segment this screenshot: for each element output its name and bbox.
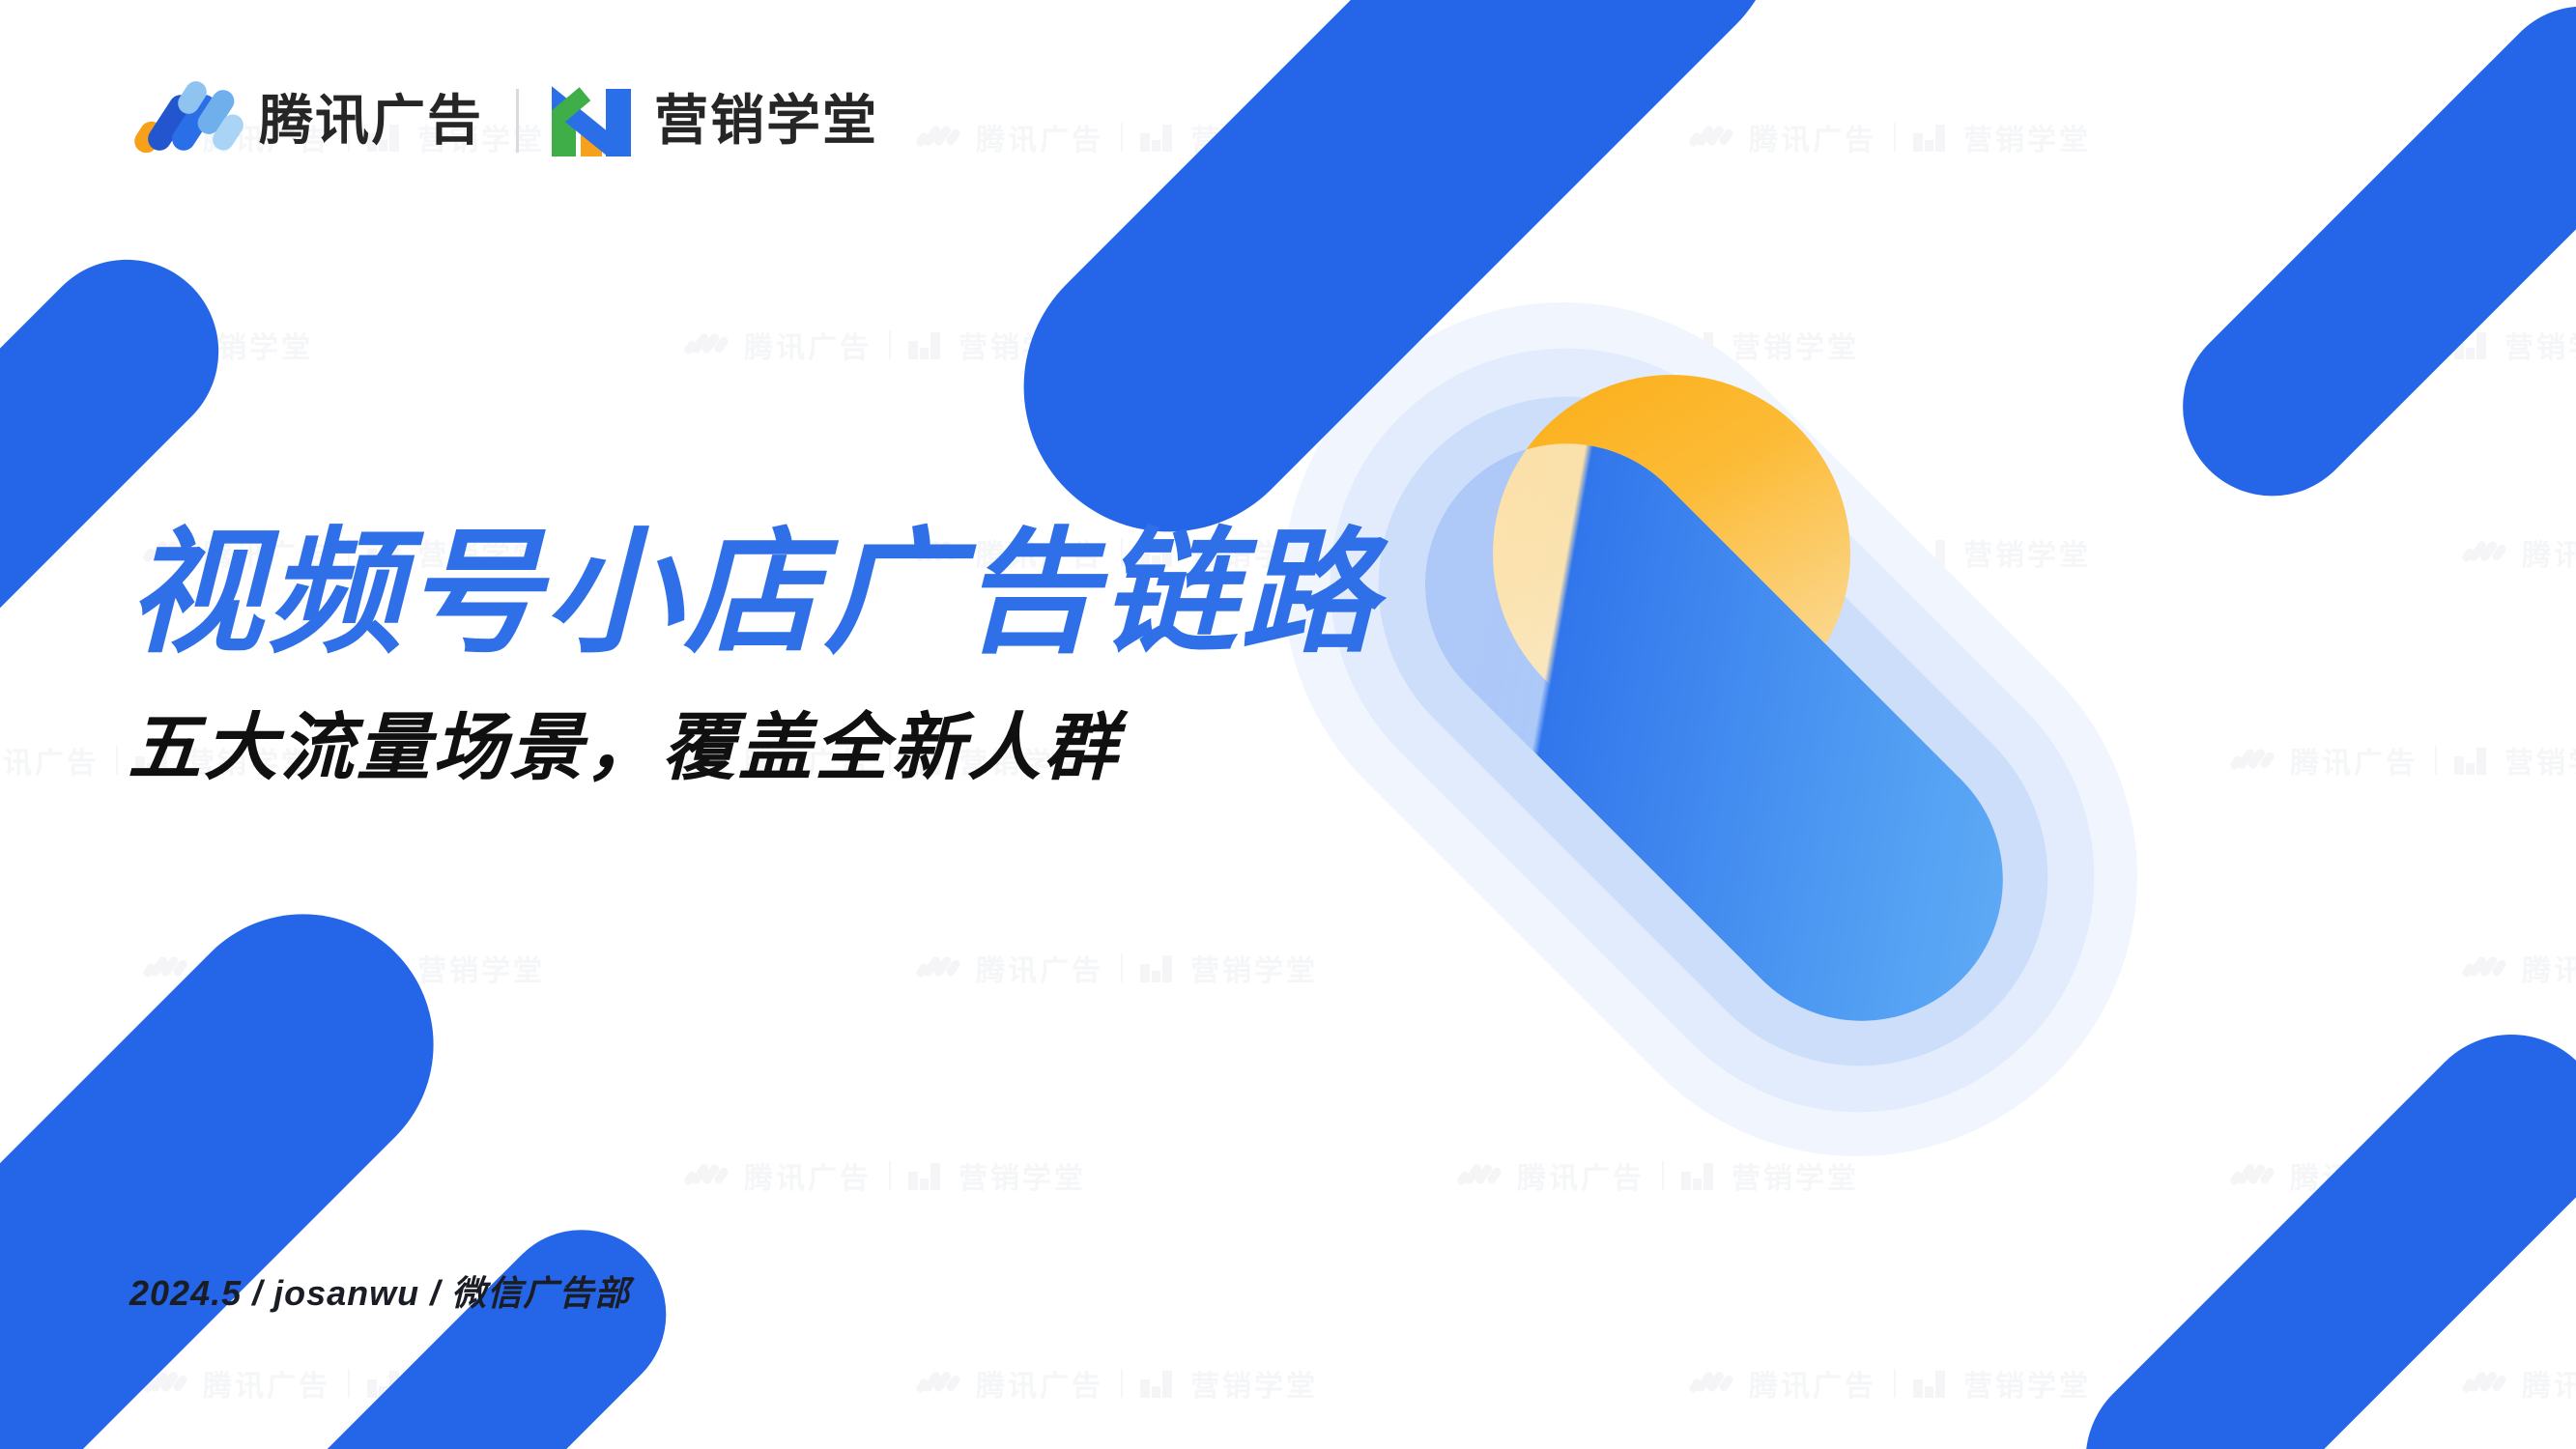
watermark-tencent-ads-logo-icon [1691, 1369, 1732, 1398]
watermark-brand-primary-label: 腾讯广告 [2522, 531, 2576, 574]
watermark-brand-primary-label: 腾讯广告 [0, 739, 99, 781]
watermark-brand-secondary-label: 营销学堂 [2504, 1154, 2576, 1197]
watermark-separator-icon [2435, 330, 2437, 359]
watermark-marketing-academy-m-icon [1140, 953, 1173, 982]
watermark-tencent-ads-logo-icon [2464, 538, 2504, 567]
watermark-brand-primary-label: 腾讯广告 [976, 947, 1103, 989]
watermark-separator-icon [2435, 746, 2437, 775]
watermark-marketing-academy-m-icon [1913, 953, 1946, 982]
watermark-brand-primary-label: 腾讯广告 [0, 1154, 99, 1197]
watermark-unit: 腾讯广告营销学堂 [2232, 324, 2576, 366]
watermark-tencent-ads-logo-icon [2464, 1369, 2504, 1398]
watermark-tencent-ads-logo-icon [1691, 123, 1732, 152]
pill-right-edge-upper [2146, 0, 2576, 533]
watermark-unit: 腾讯广告营销学堂 [1691, 947, 2091, 989]
marketing-academy-m-icon [552, 85, 635, 156]
watermark-unit: 腾讯广告营销学堂 [2464, 947, 2576, 989]
watermark-marketing-academy-m-icon [135, 1161, 168, 1190]
watermark-brand-secondary-label: 营销学堂 [1732, 324, 1859, 366]
watermark-separator-icon [116, 746, 118, 775]
watermark-tencent-ads-logo-icon [2232, 1161, 2273, 1190]
watermark-brand-primary-label: 腾讯广告 [1517, 324, 1645, 366]
watermark-marketing-academy-m-icon [367, 953, 400, 982]
watermark-brand-primary-label: 腾讯广告 [1749, 116, 1876, 158]
watermark-unit: 腾讯广告营销学堂 [145, 1362, 545, 1405]
watermark-row: 腾讯广告营销学堂腾讯广告营销学堂腾讯广告营销学堂腾讯广告营销学堂 [0, 1154, 2576, 1197]
watermark-unit: 腾讯广告营销学堂 [1459, 739, 1859, 781]
watermark-brand-primary-label: 腾讯广告 [203, 1362, 330, 1405]
watermark-brand-secondary-label: 营销学堂 [417, 947, 545, 989]
watermark-tencent-ads-logo-icon [2232, 330, 2273, 359]
watermark-unit: 腾讯广告营销学堂 [0, 1154, 313, 1197]
watermark-unit: 腾讯广告营销学堂 [2464, 531, 2576, 574]
watermark-marketing-academy-m-icon [135, 330, 168, 359]
watermark-unit: 腾讯广告营销学堂 [686, 324, 1086, 366]
watermark-brand-secondary-label: 营销学堂 [1963, 116, 2091, 158]
footer-credit: 2024.5 / josanwu / 微信广告部 [129, 1265, 630, 1316]
watermark-separator-icon [116, 1161, 118, 1190]
watermark-separator-icon [1662, 746, 1664, 775]
watermark-separator-icon [1894, 123, 1896, 152]
watermark-marketing-academy-m-icon [1140, 1369, 1173, 1398]
watermark-row: 腾讯广告营销学堂腾讯广告营销学堂腾讯广告营销学堂腾讯广告营销学堂 [145, 1362, 2576, 1405]
watermark-separator-icon [116, 330, 118, 359]
headline-block: 视频号小店广告链路 五大流量场景，覆盖全新人群 [128, 522, 1380, 789]
watermark-brand-secondary-label: 营销学堂 [2504, 739, 2576, 781]
watermark-unit: 腾讯广告营销学堂 [145, 947, 545, 989]
watermark-brand-primary-label: 腾讯广告 [2290, 739, 2418, 781]
watermark-brand-secondary-label: 营销学堂 [417, 1362, 545, 1405]
watermark-marketing-academy-m-icon [1681, 330, 1714, 359]
watermark-brand-secondary-label: 营销学堂 [1732, 1154, 1859, 1197]
watermark-unit: 腾讯广告营销学堂 [0, 324, 313, 366]
watermark-brand-secondary-label: 营销学堂 [1190, 1362, 1318, 1405]
watermark-unit: 腾讯广告营销学堂 [1459, 324, 1859, 366]
watermark-marketing-academy-m-icon [908, 1161, 941, 1190]
tencent-ads-brand: 腾讯广告 [135, 86, 483, 156]
watermark-tencent-ads-logo-icon [2464, 123, 2504, 152]
watermark-brand-primary-label: 腾讯广告 [976, 116, 1103, 158]
watermark-brand-secondary-label: 营销学堂 [186, 324, 313, 366]
watermark-separator-icon [1894, 1369, 1896, 1398]
pill-bottom-left-large [0, 860, 488, 1449]
watermark-marketing-academy-m-icon [1681, 1161, 1714, 1190]
watermark-marketing-academy-m-icon [1913, 538, 1946, 567]
watermark-unit: 腾讯广告营销学堂 [918, 1362, 1318, 1405]
watermark-separator-icon [1121, 1369, 1123, 1398]
marketing-academy-brand: 营销学堂 [552, 85, 878, 156]
watermark-unit: 腾讯广告营销学堂 [2232, 1154, 2576, 1197]
watermark-separator-icon [889, 330, 891, 359]
watermark-brand-primary-label: 腾讯广告 [744, 1154, 872, 1197]
watermark-tencent-ads-logo-icon [918, 1369, 959, 1398]
watermark-tencent-ads-logo-icon [1459, 746, 1500, 775]
watermark-unit: 腾讯广告营销学堂 [2464, 116, 2576, 158]
watermark-marketing-academy-m-icon [2454, 1161, 2487, 1190]
watermark-marketing-academy-m-icon [1913, 123, 1946, 152]
watermark-brand-secondary-label: 营销学堂 [2504, 324, 2576, 366]
watermark-tencent-ads-logo-icon [686, 1161, 727, 1190]
watermark-brand-primary-label: 腾讯广告 [0, 324, 99, 366]
watermark-marketing-academy-m-icon [1913, 1369, 1946, 1398]
watermark-brand-primary-label: 腾讯广告 [2290, 1154, 2418, 1197]
watermark-brand-primary-label: 腾讯广告 [1749, 1362, 1876, 1405]
orange-orb [1493, 375, 1850, 732]
watermark-separator-icon [348, 953, 350, 982]
watermark-brand-secondary-label: 营销学堂 [959, 324, 1086, 366]
watermark-marketing-academy-m-icon [908, 330, 941, 359]
brand-divider-icon [516, 89, 519, 153]
watermark-separator-icon [1894, 953, 1896, 982]
watermark-unit: 腾讯广告营销学堂 [918, 947, 1318, 989]
watermark-tencent-ads-logo-icon [2464, 953, 2504, 982]
watermark-tencent-ads-logo-icon [145, 953, 186, 982]
watermark-brand-secondary-label: 营销学堂 [1963, 531, 2091, 574]
watermark-separator-icon [1121, 953, 1123, 982]
watermark-marketing-academy-m-icon [2454, 746, 2487, 775]
watermark-separator-icon [2435, 1161, 2437, 1190]
watermark-marketing-academy-m-icon [2454, 330, 2487, 359]
watermark-unit: 腾讯广告营销学堂 [1691, 1362, 2091, 1405]
watermark-brand-primary-label: 腾讯广告 [2522, 1362, 2576, 1405]
watermark-marketing-academy-m-icon [1140, 123, 1173, 152]
watermark-brand-secondary-label: 营销学堂 [1190, 947, 1318, 989]
watermark-unit: 腾讯广告营销学堂 [2464, 1362, 2576, 1405]
watermark-brand-primary-label: 腾讯广告 [203, 947, 330, 989]
watermark-unit: 腾讯广告营销学堂 [686, 1154, 1086, 1197]
tencent-ads-logo-icon [135, 86, 240, 156]
watermark-brand-secondary-label: 营销学堂 [1963, 947, 2091, 989]
watermark-separator-icon [1894, 538, 1896, 567]
page-subtitle: 五大流量场景，覆盖全新人群 [128, 708, 1380, 789]
watermark-tencent-ads-logo-icon [918, 123, 959, 152]
pill-bottom-left-small [260, 1195, 701, 1449]
watermark-tencent-ads-logo-icon [2232, 746, 2273, 775]
watermark-brand-primary-label: 腾讯广告 [976, 1362, 1103, 1405]
watermark-unit: 腾讯广告营销学堂 [2232, 739, 2576, 781]
watermark-brand-primary-label: 腾讯广告 [744, 324, 872, 366]
watermark-separator-icon [1121, 123, 1123, 152]
watermark-brand-primary-label: 腾讯广告 [2522, 947, 2576, 989]
watermark-separator-icon [348, 1369, 350, 1398]
watermark-unit: 腾讯广告营销学堂 [1459, 1154, 1859, 1197]
watermark-tencent-ads-logo-icon [686, 330, 727, 359]
watermark-brand-primary-label: 腾讯广告 [2522, 116, 2576, 158]
watermark-brand-primary-label: 腾讯广告 [1749, 947, 1876, 989]
brand-lockup: 腾讯广告 营销学堂 [135, 85, 878, 156]
watermark-brand-secondary-label: 营销学堂 [1963, 1362, 2091, 1405]
watermark-tencent-ads-logo-icon [918, 953, 959, 982]
watermark-brand-primary-label: 腾讯广告 [2290, 324, 2418, 366]
watermark-tencent-ads-logo-icon [145, 1369, 186, 1398]
watermark-brand-secondary-label: 营销学堂 [959, 1154, 1086, 1197]
watermark-row: 腾讯广告营销学堂腾讯广告营销学堂腾讯广告营销学堂腾讯广告营销学堂 [145, 947, 2576, 989]
page-title: 视频号小店广告链路 [128, 522, 1380, 664]
pill-bottom-right [2046, 996, 2576, 1449]
watermark-brand-primary-label: 腾讯广告 [1517, 1154, 1645, 1197]
watermark-brand-secondary-label: 营销学堂 [1190, 116, 1318, 158]
watermark-tencent-ads-logo-icon [1459, 1161, 1500, 1190]
watermark-separator-icon [1662, 330, 1664, 359]
watermark-row: 腾讯广告营销学堂腾讯广告营销学堂腾讯广告营销学堂腾讯广告营销学堂 [0, 324, 2576, 366]
watermark-brand-secondary-label: 营销学堂 [1732, 739, 1859, 781]
slide-canvas: 腾讯广告营销学堂腾讯广告营销学堂腾讯广告营销学堂腾讯广告营销学堂腾讯广告营销学堂… [0, 0, 2576, 1449]
watermark-unit: 腾讯广告营销学堂 [1691, 116, 2091, 158]
watermark-separator-icon [889, 1161, 891, 1190]
watermark-brand-secondary-label: 营销学堂 [186, 1154, 313, 1197]
watermark-unit: 腾讯广告营销学堂 [918, 116, 1318, 158]
watermark-brand-primary-label: 腾讯广告 [1517, 739, 1645, 781]
watermark-tencent-ads-logo-icon [1691, 953, 1732, 982]
watermark-separator-icon [1662, 1161, 1664, 1190]
brand-secondary-label: 营销学堂 [654, 94, 878, 148]
brand-primary-label: 腾讯广告 [259, 94, 483, 148]
watermark-marketing-academy-m-icon [1681, 746, 1714, 775]
watermark-tencent-ads-logo-icon [1459, 330, 1500, 359]
watermark-marketing-academy-m-icon [367, 1369, 400, 1398]
